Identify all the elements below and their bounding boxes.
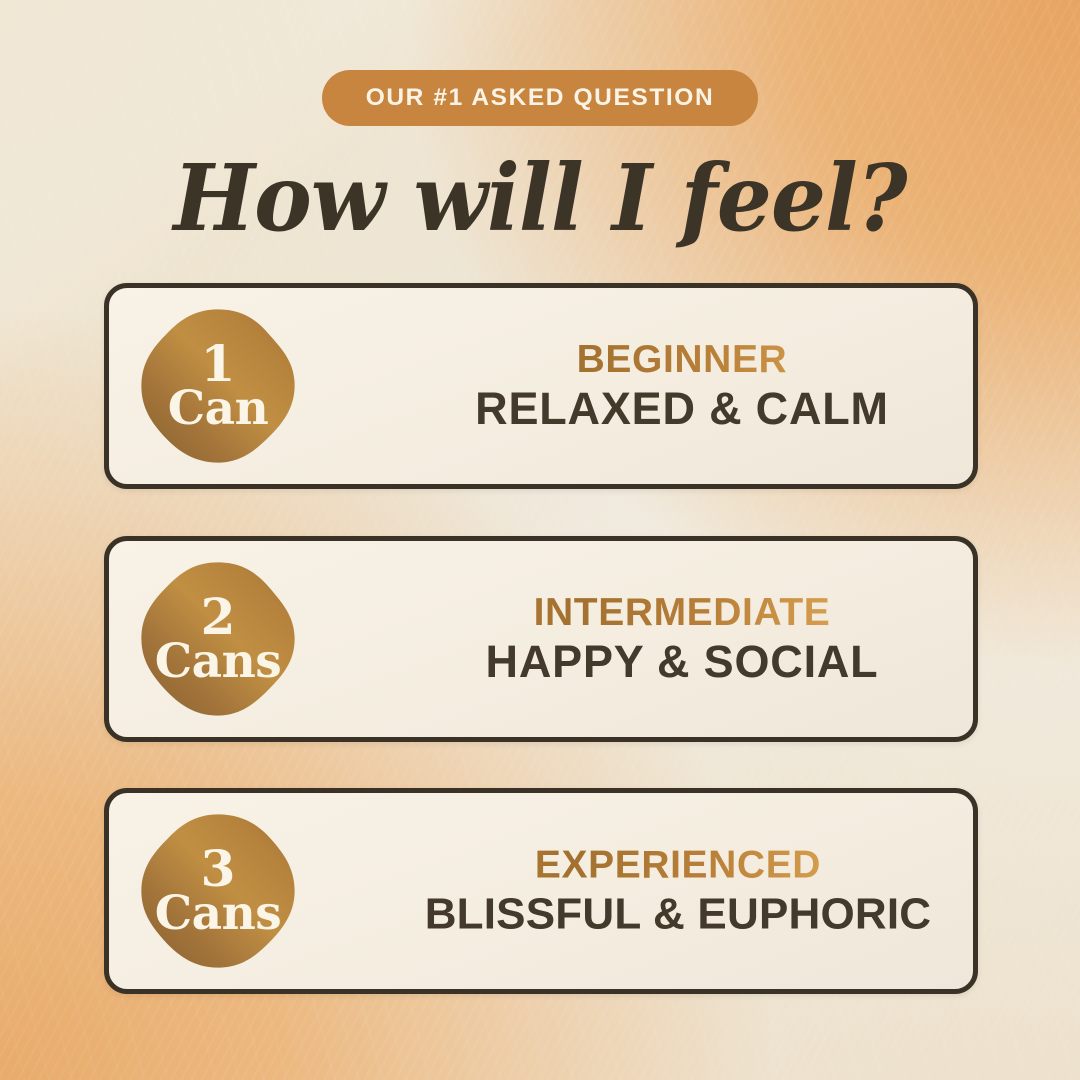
tier-level-2: INTERMEDIATE	[409, 591, 955, 635]
badge-label-2: 2 Cans	[139, 560, 297, 718]
tier-feeling-1: RELAXED & CALM	[409, 384, 955, 434]
badge-unit-1: Can	[168, 387, 269, 430]
tier-card-3: 3 Cans EXPERIENCED BLISSFUL & EUPHORIC	[104, 788, 978, 994]
can-count-badge-1: 1 Can	[139, 307, 297, 465]
page-title: How will I feel?	[32, 152, 1047, 244]
tier-level-3: EXPERIENCED	[401, 844, 955, 888]
badge-unit-2: Cans	[155, 640, 282, 683]
tier-card-1: 1 Can BEGINNER RELAXED & CALM	[104, 283, 978, 489]
tier-feeling-3: BLISSFUL & EUPHORIC	[401, 889, 955, 938]
tier-level-1: BEGINNER	[409, 338, 955, 382]
tier-feeling-2: HAPPY & SOCIAL	[409, 637, 955, 687]
tier-text-3: EXPERIENCED BLISSFUL & EUPHORIC	[401, 844, 955, 939]
can-count-badge-3: 3 Cans	[139, 812, 297, 970]
tier-card-2: 2 Cans INTERMEDIATE HAPPY & SOCIAL	[104, 536, 978, 742]
tier-text-1: BEGINNER RELAXED & CALM	[409, 338, 955, 434]
tier-text-2: INTERMEDIATE HAPPY & SOCIAL	[409, 591, 955, 687]
question-badge-label: OUR #1 ASKED QUESTION	[366, 84, 715, 112]
question-badge-pill: OUR #1 ASKED QUESTION	[322, 70, 758, 126]
badge-label-3: 3 Cans	[139, 812, 297, 970]
can-count-badge-2: 2 Cans	[139, 560, 297, 718]
badge-unit-3: Cans	[155, 892, 282, 935]
badge-label-1: 1 Can	[139, 307, 297, 465]
